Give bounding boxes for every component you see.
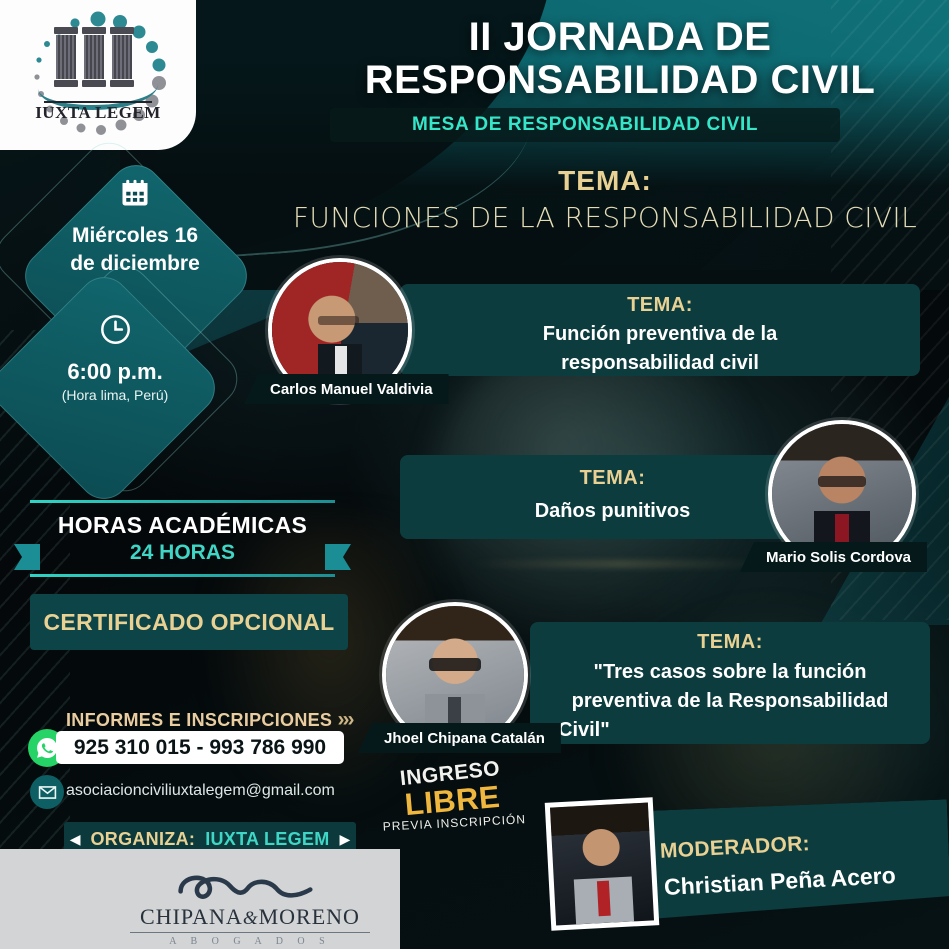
time-value: 6:00 p.m. — [10, 359, 220, 385]
cm-monogram-icon — [110, 864, 390, 904]
envelope-icon — [30, 775, 64, 809]
email-address[interactable]: asociacionciviliuxtalegem@gmail.com — [66, 782, 335, 800]
iuxta-legem-logo: IUXTA LEGEM — [0, 0, 196, 150]
divider-bottom — [30, 574, 335, 577]
phone-numbers: 925 310 015 - 993 786 990 — [74, 736, 326, 760]
contact-heading-text: INFORMES E INSCRIPCIONES — [66, 710, 332, 730]
contact-heading: INFORMES E INSCRIPCIONES ››› — [66, 708, 353, 732]
speaker-2-topic-label: TEMA: — [400, 467, 825, 490]
main-topic-value: FUNCIONES DE LA RESPONSABILIDAD CIVIL — [270, 201, 940, 234]
academic-hours-title: HORAS ACADÉMICAS — [30, 512, 335, 539]
sponsor-footer: CHIPANA&MORENO A B O G A D O S — [0, 849, 400, 949]
speaker-2-nameplate: Mario Solis Cordova — [740, 542, 927, 572]
moderator-photo — [545, 797, 660, 930]
event-poster: IUXTA LEGEM II JORNADA DE RESPONSABILIDA… — [0, 0, 949, 949]
date-block: Miércoles 16 de diciembre — [30, 178, 240, 279]
organizer-name: IUXTA LEGEM — [205, 829, 329, 850]
speaker-1-topic-label: TEMA: — [400, 294, 920, 317]
speaker-3-topic-panel: TEMA: "Tres casos sobre la función preve… — [530, 622, 930, 744]
title-line-1: II JORNADA DE — [300, 16, 940, 59]
timezone-value: (Hora lima, Perú) — [10, 387, 220, 403]
speaker-3-topic-label: TEMA: — [530, 631, 930, 654]
sponsor-ampersand: & — [243, 908, 259, 929]
sponsor-divider — [130, 932, 370, 933]
title-line-2: RESPONSABILIDAD CIVIL — [300, 59, 940, 102]
background-blur-shape — [470, 560, 770, 568]
clock-icon — [99, 313, 132, 346]
academic-hours-block: HORAS ACADÉMICAS 24 HORAS — [30, 500, 335, 577]
subtitle-bar: MESA DE RESPONSABILIDAD CIVIL — [330, 108, 840, 142]
academic-hours-value: 24 HORAS — [30, 541, 335, 565]
main-topic-label: TEMA: — [270, 165, 940, 197]
chevrons-icon: ››› — [338, 708, 353, 731]
speaker-2-topic-panel: TEMA: Daños punitivos — [400, 455, 825, 539]
main-topic: TEMA: FUNCIONES DE LA RESPONSABILIDAD CI… — [270, 165, 940, 234]
speaker-1-topic-line-1: Función preventiva de la — [400, 320, 920, 349]
sponsor-name-part-1: CHIPANA — [140, 904, 243, 929]
speaker-2-name: Mario Solis Cordova — [766, 549, 911, 566]
page-title: II JORNADA DE RESPONSABILIDAD CIVIL — [300, 16, 940, 102]
speaker-3-topic-line-1: "Tres casos sobre la función — [530, 658, 930, 687]
chipana-moreno-logo: CHIPANA&MORENO A B O G A D O S — [110, 864, 390, 947]
speaker-1-topic-line-2: responsabilidad civil — [400, 349, 920, 378]
certificate-badge: CERTIFICADO OPCIONAL — [30, 594, 348, 650]
speaker-3-nameplate: Jhoel Chipana Catalán — [358, 723, 561, 753]
subtitle-text: MESA DE RESPONSABILIDAD CIVIL — [412, 114, 758, 136]
logo-text: IUXTA LEGEM — [28, 103, 168, 123]
phone-pill[interactable]: 925 310 015 - 993 786 990 — [56, 731, 344, 764]
sponsor-subtitle: A B O G A D O S — [110, 936, 390, 947]
speaker-3-topic-line-2: preventiva de la Responsabilidad — [530, 687, 930, 716]
admission-badge: INGRESO LIBRE PREVIA INSCRIPCIÓN — [369, 755, 534, 837]
speaker-1-name: Carlos Manuel Valdivia — [270, 381, 433, 398]
certificate-label: CERTIFICADO OPCIONAL — [44, 609, 335, 636]
arrow-right-icon: ▶ — [340, 831, 351, 848]
speaker-2-topic-line-1: Daños punitivos — [400, 497, 825, 526]
date-line-1: Miércoles 16 — [30, 222, 240, 250]
calendar-icon — [120, 178, 150, 208]
time-block: 6:00 p.m. (Hora lima, Perú) — [10, 313, 220, 403]
speaker-1-topic-panel: TEMA: Función preventiva de la responsab… — [400, 284, 920, 376]
sponsor-name: CHIPANA&MORENO — [110, 904, 390, 930]
speaker-1-nameplate: Carlos Manuel Valdivia — [244, 374, 449, 404]
speaker-3-name: Jhoel Chipana Catalán — [384, 730, 545, 747]
sponsor-name-part-2: MORENO — [259, 904, 360, 929]
divider-top — [30, 500, 335, 503]
organizer-label: ORGANIZA: — [90, 829, 195, 850]
arrow-left-icon: ◀ — [70, 831, 81, 848]
speaker-3-topic-line-3: Civil" — [530, 716, 930, 745]
